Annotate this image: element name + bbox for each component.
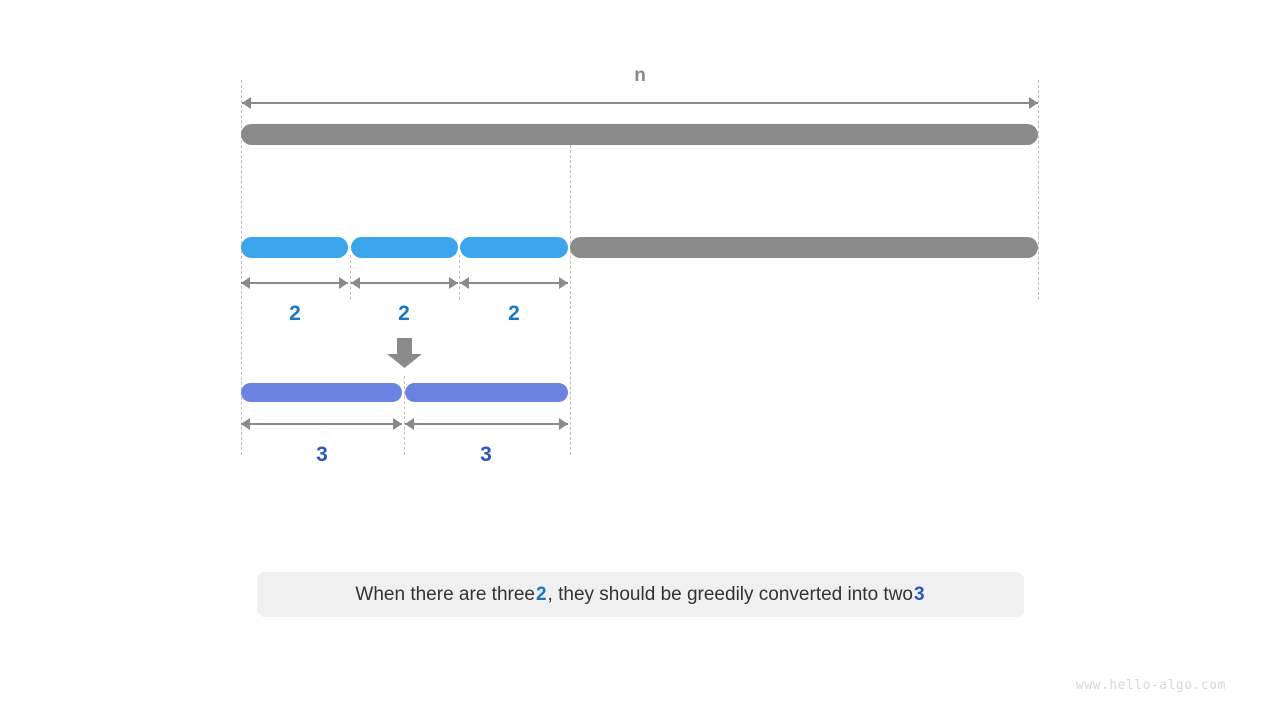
total-length-measure [242,97,1038,109]
caption-text-part1: When there are three [355,584,535,606]
diagram-canvas: n 2 2 2 [0,0,1280,720]
measure-shaft [241,423,402,425]
arrow-head-left-icon [241,418,250,430]
arrow-head-right-icon [559,277,568,289]
segment-3-measure-1 [241,418,402,430]
arrow-head-left-icon [351,277,360,289]
measure-shaft [460,282,568,284]
segment-2-measure-2 [351,277,458,289]
measure-shaft [241,282,348,284]
full-array-bar [241,124,1038,145]
arrow-head-right-icon [559,418,568,430]
measure-shaft [242,102,1038,104]
segment-3-label-2: 3 [446,444,526,465]
arrow-head-left-icon [241,277,250,289]
measure-shaft [405,423,568,425]
guide-line-right [1038,80,1039,300]
arrow-head-right-icon [393,418,402,430]
segment-2-bar-1 [241,237,348,258]
segment-3-measure-2 [405,418,568,430]
arrow-head-right-icon [1029,97,1038,109]
arrow-head-left-icon [460,277,469,289]
segment-2-label-3: 2 [474,303,554,324]
segment-2-measure-1 [241,277,348,289]
segment-3-bar-1 [241,383,402,402]
down-arrow-icon [386,338,423,368]
arrow-head-right-icon [339,277,348,289]
total-length-label: n [600,66,680,85]
segment-2-label-1: 2 [255,303,335,324]
down-arrow-glyph [386,338,423,368]
segment-2-bar-2 [351,237,458,258]
caption-box: When there are three 2, they should be g… [257,572,1024,617]
guide-line-middle [570,145,571,455]
segment-3-label-1: 3 [282,444,362,465]
caption-highlight-3: 3 [913,584,926,606]
remainder-bar [570,237,1038,258]
segment-2-label-2: 2 [364,303,444,324]
segment-2-measure-3 [460,277,568,289]
watermark: www.hello-algo.com [1076,678,1226,693]
arrow-head-left-icon [242,97,251,109]
segment-2-bar-3 [460,237,568,258]
measure-shaft [351,282,458,284]
arrow-head-right-icon [449,277,458,289]
caption-text-part2: , they should be greedily converted into… [548,584,913,606]
arrow-head-left-icon [405,418,414,430]
segment-3-bar-2 [405,383,568,402]
caption-highlight-2: 2 [535,584,548,606]
